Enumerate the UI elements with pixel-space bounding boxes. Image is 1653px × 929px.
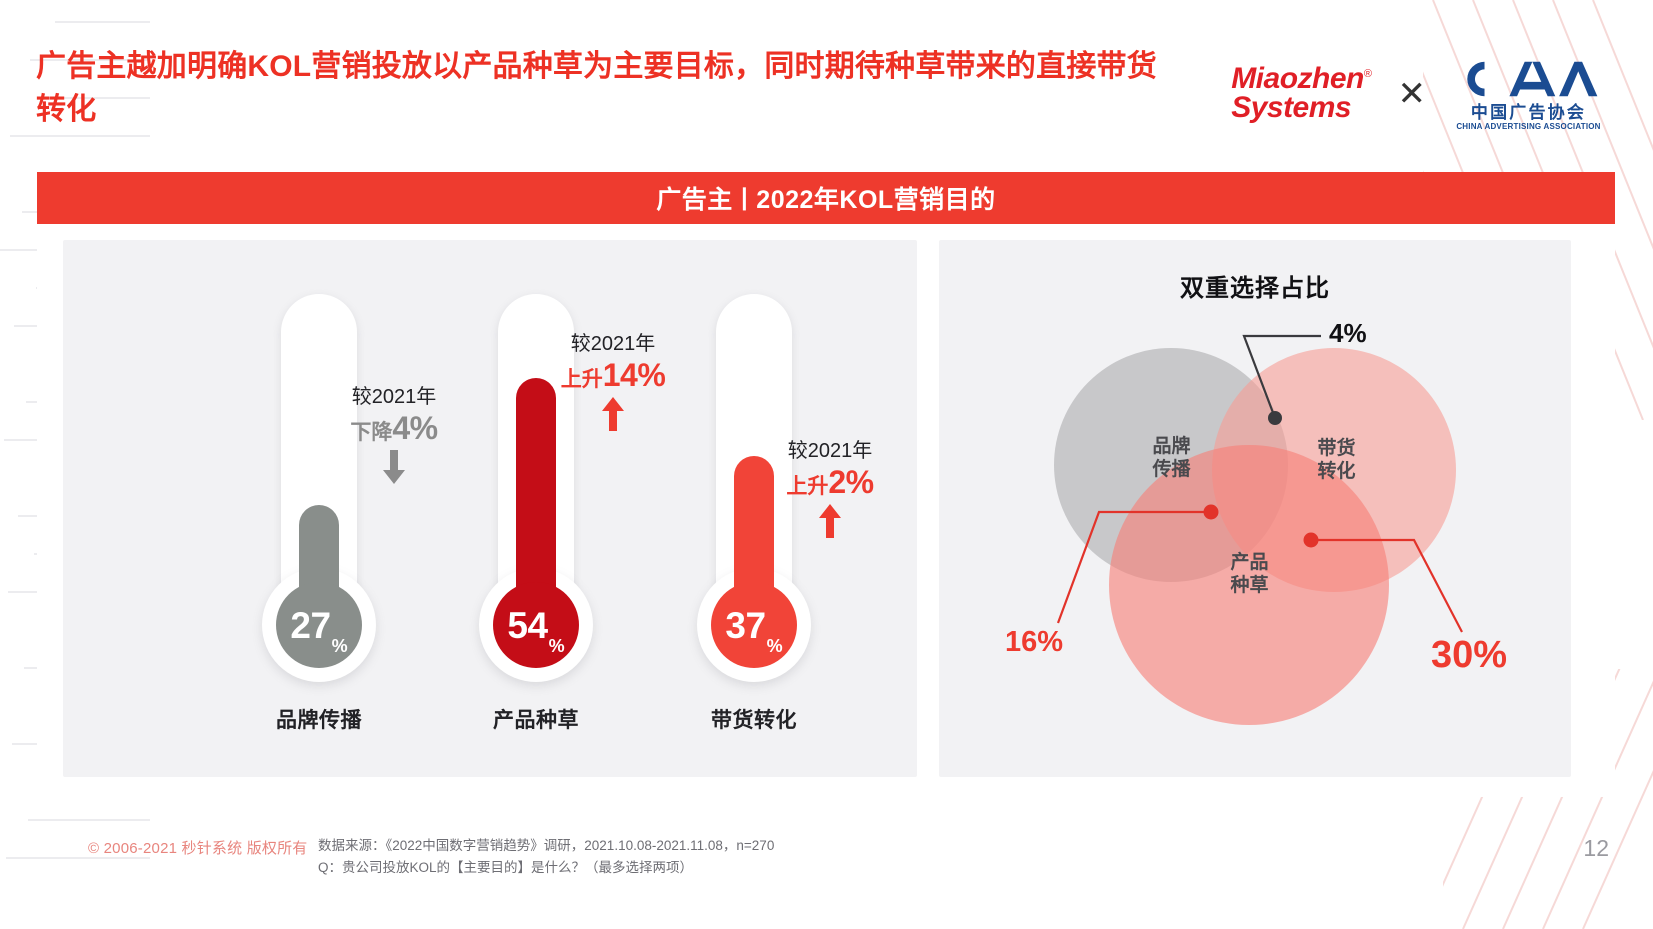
- miaozhen-logo-line1: Miaozhen®: [1231, 65, 1371, 94]
- page-number: 12: [1583, 835, 1609, 862]
- venn-svg: [939, 240, 1571, 773]
- venn-leader-dot-30: [1304, 533, 1319, 548]
- venn-diagram: 品牌 传播 带货 转化 产品 种草 4% 16% 30%: [939, 240, 1571, 773]
- arrow-down-icon: [382, 450, 406, 484]
- delta-compare-label-2: 较2021年: [523, 332, 703, 356]
- venn-callout-30: 30%: [1431, 634, 1507, 677]
- times-separator-icon: ✕: [1397, 77, 1426, 111]
- venn-leader-dot-4: [1268, 411, 1282, 425]
- page-title: 广告主越加明确KOL营销投放以产品种草为主要目标，同时期待种草带来的直接带货转化: [36, 46, 1186, 131]
- copyright-text: © 2006-2021 秒针系统 版权所有: [88, 837, 308, 858]
- miaozhen-logo-line2: Systems: [1231, 94, 1371, 123]
- source-line-1: 数据来源：《2022中国数字营销趋势》调研，2021.10.08-2021.11…: [318, 835, 774, 857]
- venn-callout-4: 4%: [1329, 318, 1367, 349]
- delta-compare-label-3: 较2021年: [740, 439, 920, 463]
- thermometer-label-sales-conversion: 带货转化: [654, 704, 854, 734]
- thermometer-bulb-1: 27 %: [276, 582, 362, 668]
- thermometer-percent-2: %: [549, 636, 565, 657]
- thermometer-value-2: 54: [507, 607, 547, 644]
- caa-logo-chinese: 中国广告协会: [1452, 104, 1605, 121]
- thermometer-bulb-2: 54 %: [493, 582, 579, 668]
- venn-panel: 双重选择占比: [939, 240, 1571, 777]
- thermometer-group: 27 % 品牌传播 54: [63, 240, 917, 777]
- thermometer-label-product-seeding: 产品种草: [436, 704, 636, 734]
- slide-root: 广告主越加明确KOL营销投放以产品种草为主要目标，同时期待种草带来的直接带货转化…: [0, 0, 1653, 929]
- footer: © 2006-2021 秒针系统 版权所有 数据来源：《2022中国数字营销趋势…: [0, 809, 1653, 929]
- content-card: 广告主ㅣ2022年KOL营销目的 27 %: [37, 172, 1615, 797]
- source-note: 数据来源：《2022中国数字营销趋势》调研，2021.10.08-2021.11…: [318, 835, 774, 879]
- source-line-2: Q：贵公司投放KOL的【主要目的】是什么？（最多选择两项）: [318, 857, 774, 879]
- venn-label-product-seeding: 产品 种草: [1197, 552, 1302, 598]
- registered-trademark-icon: ®: [1364, 68, 1372, 80]
- thermometer-panel: 27 % 品牌传播 54: [63, 240, 917, 777]
- thermometer-percent-3: %: [767, 636, 783, 657]
- thermometer-value-3: 37: [725, 607, 765, 644]
- arrow-up-icon: [818, 504, 842, 538]
- venn-callout-16: 16%: [1005, 626, 1063, 659]
- delta-compare-label-1: 较2021年: [304, 385, 484, 409]
- card-header: 广告主ㅣ2022年KOL营销目的: [37, 172, 1615, 224]
- caa-logo-english: CHINA ADVERTISING ASSOCIATION: [1452, 123, 1605, 131]
- miaozhen-logo: Miaozhen® Systems: [1231, 65, 1371, 123]
- venn-label-sales-conversion: 带货 转化: [1284, 438, 1389, 484]
- caa-mark-icon: [1452, 57, 1605, 101]
- delta-annotation-brand-awareness: 较2021年 下降4%: [304, 385, 484, 484]
- arrow-up-icon: [601, 397, 625, 431]
- venn-label-brand-awareness: 品牌 传播: [1119, 436, 1224, 482]
- thermometer-percent-1: %: [332, 636, 348, 657]
- card-body: 27 % 品牌传播 54: [37, 224, 1615, 797]
- logo-group: Miaozhen® Systems ✕ 中国广告协会 CHINA ADVERTI…: [1231, 44, 1605, 144]
- thermometer-value-1: 27: [290, 607, 330, 644]
- thermometer-bulb-3: 37 %: [711, 582, 797, 668]
- venn-leader-dot-16: [1204, 505, 1219, 520]
- thermometer-label-brand-awareness: 品牌传播: [219, 704, 419, 734]
- delta-value-1: 下降4%: [304, 409, 484, 448]
- caa-logo: 中国广告协会 CHINA ADVERTISING ASSOCIATION: [1452, 57, 1605, 131]
